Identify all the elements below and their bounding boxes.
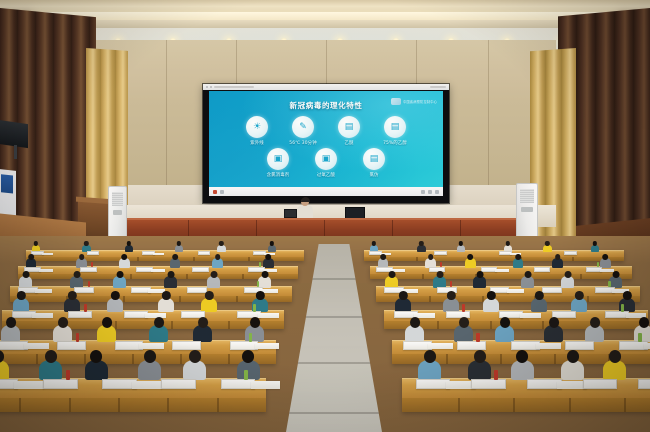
- attendee-head: [205, 291, 213, 300]
- water-bottle: [638, 333, 641, 342]
- attendee: [107, 291, 123, 312]
- desk-nameplate: [534, 267, 550, 272]
- attendee: [552, 254, 563, 268]
- attendee: [609, 271, 622, 288]
- attendee-torso: [521, 276, 534, 288]
- water-bottle: [494, 370, 498, 380]
- taskbar-powerpoint-icon: [213, 190, 217, 194]
- attendee-head: [447, 291, 455, 300]
- thermometer-icon: ✎: [292, 116, 314, 138]
- attendee-head: [419, 241, 423, 246]
- desk-paper: [153, 253, 164, 256]
- attendee-head: [167, 271, 174, 278]
- desk-nameplate: [198, 251, 211, 255]
- attendee-torso: [571, 298, 587, 312]
- chlorine-disinfectant-icon: ▣: [267, 148, 289, 170]
- attendee-head: [609, 350, 621, 363]
- attendee-torso: [113, 276, 126, 288]
- attendee-head: [265, 254, 271, 260]
- attendee: [53, 317, 72, 342]
- attendee-head: [121, 254, 127, 260]
- attendee: [149, 317, 168, 342]
- water-bottle: [84, 304, 87, 311]
- desk-paper: [14, 381, 44, 389]
- attendee-torso: [183, 360, 206, 380]
- water-bottle: [476, 333, 479, 342]
- desk-paper: [644, 343, 650, 350]
- slide-feature-label: 氯仿: [359, 172, 389, 178]
- attendee-torso: [405, 325, 424, 342]
- speaker-stand: [14, 145, 17, 159]
- attendee: [417, 241, 425, 252]
- desk-nameplate: [565, 341, 594, 350]
- desk-paper: [132, 381, 162, 389]
- attendee: [405, 317, 424, 342]
- attendee-head: [79, 254, 85, 260]
- slide-feature-item: ▤氯仿: [359, 148, 389, 178]
- attendee: [175, 241, 183, 252]
- attendee: [201, 291, 217, 312]
- attendee-torso: [603, 360, 626, 380]
- attendee-torso: [457, 245, 465, 252]
- attendee: [76, 254, 87, 268]
- attendee: [64, 291, 80, 312]
- attendee-head: [210, 271, 217, 278]
- attendee-head: [189, 350, 201, 363]
- attendee-torso: [443, 298, 459, 312]
- attendee-head: [261, 271, 268, 278]
- projection-screen: 中国疾病预防控制中心 新冠病毒的理化特性 ☀紫外线✎56℃ 30分钟▤乙醚▤75…: [203, 84, 449, 203]
- attendee: [513, 254, 524, 268]
- attendee-head: [215, 254, 221, 260]
- attendee-torso: [417, 245, 425, 252]
- ether-bottle-icon: ▤: [338, 116, 360, 138]
- attendee-torso: [585, 325, 604, 342]
- attendee: [125, 241, 133, 252]
- attendee-head: [380, 254, 386, 260]
- attendee-torso: [495, 325, 514, 342]
- attendee: [603, 350, 626, 380]
- attendee: [237, 350, 260, 380]
- attendee-head: [535, 291, 543, 300]
- attendee-torso: [634, 325, 650, 342]
- desk-paper: [255, 343, 280, 350]
- attendee: [585, 317, 604, 342]
- attendee-head: [388, 271, 395, 278]
- attendee-torso: [237, 360, 260, 380]
- attendee-torso: [119, 258, 130, 268]
- attendee: [97, 317, 116, 342]
- app-bar-address: [214, 86, 254, 88]
- attendee-head: [602, 254, 608, 260]
- attendee-torso: [53, 325, 72, 342]
- attendee-head: [524, 271, 531, 278]
- attendee-torso: [125, 245, 133, 252]
- desk-nameplate: [57, 341, 86, 350]
- attendee-head: [428, 254, 434, 260]
- attendee: [268, 241, 276, 252]
- app-bar-dot: [206, 86, 208, 88]
- attendee: [0, 350, 9, 380]
- taskbar-icon: [220, 190, 224, 194]
- attendee-head: [270, 241, 274, 246]
- attendee-head: [372, 241, 376, 246]
- attendee: [544, 317, 563, 342]
- attendee-torso: [268, 245, 276, 252]
- attendee-torso: [543, 245, 551, 252]
- taskbar-icon: [428, 190, 432, 194]
- attendee-torso: [552, 258, 563, 268]
- attendee-torso: [418, 360, 441, 380]
- attendee-head: [162, 291, 170, 300]
- attendee-head: [111, 291, 119, 300]
- desk-nameplate: [638, 379, 650, 389]
- attendee: [571, 291, 587, 312]
- attendee-head: [545, 241, 549, 246]
- water-bottle: [88, 281, 90, 287]
- slide-feature-item: ▣含氯消毒剂: [263, 148, 293, 178]
- attendee: [39, 350, 62, 380]
- attendee: [170, 254, 181, 268]
- attendee-head: [45, 350, 57, 363]
- desk-paper: [520, 313, 541, 319]
- attendee: [395, 291, 411, 312]
- attendee-head: [68, 291, 76, 300]
- desk-paper: [32, 313, 53, 319]
- desk-paper: [35, 289, 52, 294]
- attendee-head: [506, 241, 510, 246]
- attendee: [263, 254, 274, 268]
- attendee-torso: [212, 258, 223, 268]
- attendee-torso: [483, 298, 499, 312]
- water-bottle: [66, 370, 70, 380]
- slide-feature-label: 56℃ 30分钟: [288, 140, 318, 146]
- attendee-torso: [64, 298, 80, 312]
- attendee: [473, 271, 486, 288]
- attendee-torso: [395, 298, 411, 312]
- attendee: [26, 254, 37, 268]
- taskbar-icon: [435, 190, 439, 194]
- desk-row: [364, 250, 624, 261]
- attendee: [258, 271, 271, 288]
- attendee: [193, 317, 212, 342]
- app-bar-dot: [210, 86, 212, 88]
- attendee-torso: [170, 258, 181, 268]
- attendee-torso: [454, 325, 473, 342]
- attendee-head: [516, 350, 528, 363]
- slide-feature-item: ✎56℃ 30分钟: [288, 116, 318, 146]
- water-bottle: [462, 304, 465, 311]
- attendee-torso: [1, 325, 20, 342]
- attendee-head: [459, 241, 463, 246]
- water-bottle: [257, 281, 259, 287]
- chloroform-icon: ▤: [363, 148, 385, 170]
- attendee-head: [256, 291, 264, 300]
- attendee: [385, 271, 398, 288]
- attendee-torso: [97, 325, 116, 342]
- attendee: [418, 350, 441, 380]
- attendee-head: [127, 241, 131, 246]
- attendee: [495, 317, 514, 342]
- attendee-head: [575, 291, 583, 300]
- attendee: [164, 271, 177, 288]
- attendee-head: [564, 271, 571, 278]
- attendee-head: [17, 291, 25, 300]
- attendee-head: [474, 350, 486, 363]
- attendee-torso: [0, 360, 9, 380]
- attendee: [85, 350, 108, 380]
- attendee-head: [242, 350, 254, 363]
- attendee-head: [515, 254, 521, 260]
- water-bottle: [259, 262, 261, 267]
- attendee: [207, 271, 220, 288]
- lecture-hall-photo: 中国疾病预防控制中心 新冠病毒的理化特性 ☀紫外线✎56℃ 30分钟▤乙醚▤75…: [0, 0, 650, 432]
- attendee: [457, 241, 465, 252]
- slide-title: 新冠病毒的理化特性: [209, 100, 443, 111]
- water-bottle: [76, 333, 79, 342]
- desk-paper: [428, 343, 453, 350]
- attendee-head: [219, 241, 223, 246]
- water-bottle: [621, 304, 624, 311]
- app-bar-controls: [430, 86, 446, 88]
- attendee-torso: [207, 276, 220, 288]
- slide-feature-label: 乙醚: [334, 140, 364, 146]
- desk-paper: [151, 269, 165, 273]
- attendee: [1, 317, 20, 342]
- attendee-torso: [511, 360, 534, 380]
- wall-speaker: [0, 120, 28, 148]
- water-bottle: [597, 262, 599, 267]
- attendee: [465, 254, 476, 268]
- slide-feature-label: 75%的乙醇: [380, 140, 410, 146]
- attendee-torso: [513, 258, 524, 268]
- attendee-head: [34, 241, 38, 246]
- attendee-head: [487, 291, 495, 300]
- water-bottle: [608, 281, 610, 287]
- water-bottle: [244, 370, 248, 380]
- slide-icon-row-2: ▣含氯消毒剂▣过氧乙酸▤氯仿: [209, 148, 443, 178]
- attendee-head: [567, 350, 579, 363]
- attendee-head: [84, 241, 88, 246]
- attendee-head: [476, 271, 483, 278]
- desk-nameplate: [583, 379, 618, 389]
- presentation-slide: 中国疾病预防控制中心 新冠病毒的理化特性 ☀紫外线✎56℃ 30分钟▤乙醚▤75…: [209, 91, 443, 187]
- desk-paper: [495, 269, 509, 273]
- attendee-torso: [561, 360, 584, 380]
- desk-nameplate: [192, 267, 208, 272]
- desk-paper: [24, 343, 49, 350]
- slide-feature-item: ▤乙醚: [334, 116, 364, 146]
- powerpoint-taskbar: [209, 187, 443, 196]
- attendee: [183, 350, 206, 380]
- attendee-torso: [85, 360, 108, 380]
- attendee-torso: [13, 298, 29, 312]
- attendee: [378, 254, 389, 268]
- attendee: [158, 291, 174, 312]
- attendee: [561, 350, 584, 380]
- water-bottle: [249, 333, 252, 342]
- attendee-head: [22, 271, 29, 278]
- attendee-head: [177, 241, 181, 246]
- attendee: [468, 350, 491, 380]
- attendee-torso: [193, 325, 212, 342]
- attendee-head: [172, 254, 178, 260]
- desk-nameplate: [87, 251, 100, 255]
- taskbar-icon: [421, 190, 425, 194]
- slide-feature-item: ☀紫外线: [242, 116, 272, 146]
- attendee-head: [90, 350, 102, 363]
- attendee-torso: [561, 276, 574, 288]
- attendee-torso: [201, 298, 217, 312]
- attendee-head: [424, 350, 436, 363]
- attendee-torso: [591, 245, 599, 252]
- desk-paper: [251, 381, 281, 389]
- attendee: [561, 271, 574, 288]
- blue-banner-sign: [0, 169, 16, 217]
- water-bottle: [253, 304, 256, 311]
- attendee: [591, 241, 599, 252]
- attendee: [13, 291, 29, 312]
- attendee: [212, 254, 223, 268]
- attendee: [113, 271, 126, 288]
- uv-rays-icon: ☀: [246, 116, 268, 138]
- attendee: [433, 271, 446, 288]
- attendee: [425, 254, 436, 268]
- attendee-torso: [468, 360, 491, 380]
- attendee-torso: [158, 298, 174, 312]
- attendee-torso: [531, 298, 547, 312]
- attendee-head: [73, 271, 80, 278]
- attendee-torso: [217, 245, 225, 252]
- attendee: [138, 350, 161, 380]
- attendee-head: [399, 291, 407, 300]
- attendee-head: [593, 241, 597, 246]
- desk-nameplate: [172, 341, 201, 350]
- slide-feature-label: 含氯消毒剂: [263, 172, 293, 178]
- attendee-head: [28, 254, 34, 260]
- attendee-torso: [544, 325, 563, 342]
- water-bottle: [450, 281, 452, 287]
- desk-paper: [139, 343, 164, 350]
- desk-nameplate: [564, 251, 577, 255]
- desk-nameplate: [161, 379, 196, 389]
- slide-feature-item: ▤75%的乙醇: [380, 116, 410, 146]
- attendee-head: [612, 271, 619, 278]
- attendee-head: [467, 254, 473, 260]
- ethanol-icon: ▤: [384, 116, 406, 138]
- attendee: [483, 291, 499, 312]
- slide-feature-label: 过氧乙酸: [311, 172, 341, 178]
- desk-paper: [39, 269, 53, 273]
- attendee: [119, 254, 130, 268]
- attendee-torso: [149, 325, 168, 342]
- attendee-torso: [175, 245, 183, 252]
- water-bottle: [440, 262, 442, 267]
- attendee-torso: [39, 360, 62, 380]
- attendee: [443, 291, 459, 312]
- desk-paper: [42, 253, 53, 256]
- desk-nameplate: [471, 379, 506, 389]
- attendee-head: [555, 254, 561, 260]
- desk-paper: [507, 289, 524, 294]
- slide-feature-item: ▣过氧乙酸: [311, 148, 341, 178]
- slide-icon-row-1: ☀紫外线✎56℃ 30分钟▤乙醚▤75%的乙醇: [209, 116, 443, 146]
- attendee-head: [116, 271, 123, 278]
- slide-feature-label: 紫外线: [242, 140, 272, 146]
- attendee-torso: [138, 360, 161, 380]
- attendee-torso: [473, 276, 486, 288]
- attendee-head: [436, 271, 443, 278]
- attendee: [19, 271, 32, 288]
- desk-nameplate: [43, 379, 78, 389]
- attendee: [511, 350, 534, 380]
- peracetic-acid-icon: ▣: [315, 148, 337, 170]
- attendee: [531, 291, 547, 312]
- attendee: [217, 241, 225, 252]
- attendee: [634, 317, 650, 342]
- desk-paper: [536, 343, 561, 350]
- water-bottle: [91, 262, 93, 267]
- attendee: [521, 271, 534, 288]
- attendee-torso: [164, 276, 177, 288]
- attendee-head: [623, 291, 631, 300]
- desk-nameplate: [457, 341, 486, 350]
- attendee: [70, 271, 83, 288]
- attendee: [600, 254, 611, 268]
- attendee-torso: [107, 298, 123, 312]
- attendee: [543, 241, 551, 252]
- attendee-torso: [465, 258, 476, 268]
- ceiling-beam-inner: [60, 20, 600, 28]
- attendee: [454, 317, 473, 342]
- screen-app-bar: [203, 84, 449, 90]
- attendee-head: [144, 350, 156, 363]
